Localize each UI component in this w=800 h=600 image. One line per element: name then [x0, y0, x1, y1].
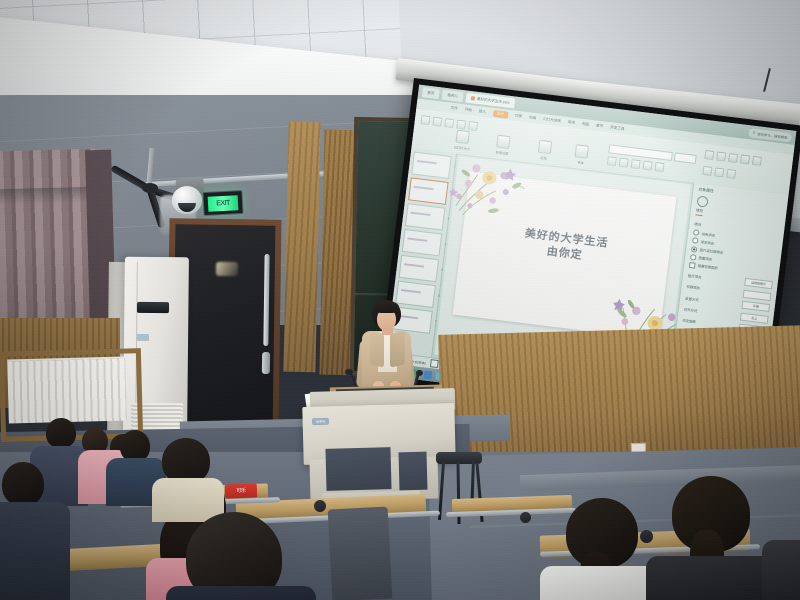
presenter-fringe — [374, 301, 399, 313]
slide-title: 美好的大学生活 由你定 — [461, 219, 671, 274]
ribbon-label-background: 背景设置 — [495, 150, 508, 157]
tab-docer[interactable]: 稻壳儿 — [442, 90, 464, 102]
fill-tool-icon[interactable] — [696, 195, 708, 207]
slide-size-icon — [456, 130, 470, 144]
presenter-jacket-left — [370, 331, 384, 368]
slide-thumbnail[interactable]: 3 — [405, 203, 446, 230]
checkbox-icon — [689, 262, 696, 269]
thumb-number: 4 — [444, 242, 446, 246]
fill-option-label: 隐藏背景图形 — [697, 263, 718, 270]
redo-icon[interactable] — [432, 117, 442, 127]
undo-icon[interactable] — [420, 115, 430, 125]
thumb-number: 7 — [435, 319, 437, 323]
prop-value[interactable] — [743, 289, 772, 300]
menu-item-insert[interactable]: 插入 — [479, 109, 487, 115]
menu-item-view[interactable]: 视图 — [582, 121, 590, 127]
wood-panel-strip — [283, 122, 320, 373]
student-body — [0, 502, 70, 600]
radio-icon — [690, 254, 697, 261]
lectern-side-panel — [399, 452, 428, 491]
shape-fill-icon[interactable] — [702, 166, 712, 176]
radio-icon-selected — [691, 246, 698, 253]
tab-home-label: 首页 — [427, 90, 435, 96]
student-head — [2, 462, 44, 506]
chair-knob — [640, 530, 653, 543]
arrange-icon[interactable] — [726, 169, 736, 179]
menu-item-animation[interactable]: 动画 — [529, 115, 537, 121]
pane-tab-fill[interactable]: 填充 — [695, 208, 703, 216]
align-left-icon[interactable] — [704, 150, 714, 160]
thumb-number: 1 — [454, 165, 456, 169]
ribbon-group-fonts[interactable]: 字体 — [574, 144, 589, 165]
strikethrough-icon[interactable] — [643, 161, 653, 171]
underline-icon[interactable] — [631, 159, 641, 169]
fill-option-label: 图案填充 — [698, 255, 712, 262]
menu-item-slideshow[interactable]: 幻灯片放映 — [543, 117, 561, 124]
align-center-icon[interactable] — [716, 152, 726, 162]
lectern-brand-badge: WPS — [312, 418, 329, 425]
door-lock-icon[interactable] — [262, 352, 270, 374]
ribbon-label-fonts: 字体 — [577, 160, 584, 166]
fill-option-label: 图片或纹理填充 — [699, 247, 723, 255]
color-scheme-icon — [538, 140, 552, 154]
slide-thumbnail[interactable]: 1 — [411, 152, 452, 179]
fan-hub — [142, 183, 158, 193]
tab-docer-label: 稻壳儿 — [447, 93, 458, 99]
bold-icon[interactable] — [607, 156, 617, 166]
radio-icon — [693, 229, 700, 236]
menu-item-design[interactable]: 设计 — [492, 109, 508, 118]
student-body — [762, 540, 800, 600]
ribbon-label-colors: 配色 — [540, 155, 547, 161]
lectern-front-panel — [325, 447, 391, 491]
align-right-icon[interactable] — [728, 153, 738, 163]
ac-brand-badge — [137, 334, 149, 341]
prop-value[interactable]: 平铺 — [741, 301, 770, 312]
prop-label: 对齐方式 — [684, 307, 698, 314]
menu-item-devtools[interactable]: 开发工具 — [610, 125, 625, 132]
exit-sign: EXIT — [202, 190, 243, 216]
search-placeholder: 查找命令、搜索模板 — [757, 131, 788, 140]
lecture-hall-photo: EXIT 首页 稻壳儿 — [0, 0, 800, 600]
tab-presentation-label: 美好的大学生活.pptx — [477, 96, 510, 105]
prop-label: 图片填充 — [688, 273, 702, 280]
fill-option-label: 渐变填充 — [700, 239, 714, 246]
snack-box: 可乐 — [225, 483, 257, 498]
thumb-number: 5 — [441, 268, 443, 272]
student-head — [46, 418, 76, 448]
prop-value[interactable]: 左上 — [740, 312, 769, 323]
thumb-number: 6 — [438, 294, 440, 298]
fill-option-label: 纯色填充 — [701, 231, 715, 238]
ribbon-group-slide-size[interactable]: 幻灯片大小 — [454, 130, 472, 152]
microphone-icon — [345, 369, 353, 375]
background-icon — [496, 135, 510, 149]
menu-item-transition[interactable]: 切换 — [515, 113, 523, 119]
bullet-list-icon[interactable] — [740, 154, 750, 164]
student-body — [166, 586, 316, 600]
exit-sign-label: EXIT — [208, 195, 239, 212]
slide-thumbnail[interactable]: 4 — [402, 229, 443, 256]
chair-knob — [520, 512, 531, 523]
wps-icon[interactable] — [424, 370, 433, 379]
shape-outline-icon[interactable] — [714, 167, 724, 177]
slide-thumbnail[interactable]: 5 — [399, 255, 440, 282]
prop-label: 纹理填充 — [686, 284, 700, 291]
menu-item-section[interactable]: 章节 — [596, 123, 604, 129]
prop-label: 向左偏移 — [682, 318, 696, 325]
print-icon[interactable] — [456, 120, 466, 130]
tab-home[interactable]: 首页 — [422, 87, 440, 99]
slide-thumbnail-selected[interactable]: 2 — [408, 177, 449, 204]
menu-item-file[interactable]: 文件 — [450, 105, 458, 111]
prop-label: 放置方式 — [685, 295, 699, 302]
ribbon-group-background[interactable]: 背景设置 — [495, 135, 510, 156]
align-row — [704, 150, 762, 166]
presenter-jacket-right — [390, 330, 405, 367]
slide-thumbnail[interactable]: 6 — [395, 281, 436, 308]
save-icon[interactable] — [444, 118, 454, 128]
radiator — [7, 356, 127, 423]
auditorium-chair[interactable] — [328, 506, 393, 600]
ppt-file-icon — [471, 96, 475, 100]
ribbon-quick-row — [420, 115, 478, 131]
font-size-input[interactable] — [674, 152, 697, 164]
menu-item-review[interactable]: 审阅 — [568, 120, 576, 126]
text-color-icon[interactable] — [654, 162, 664, 172]
curtain-shadow — [0, 187, 96, 206]
chair-knob — [314, 500, 326, 512]
student-body — [540, 566, 660, 600]
search-icon: ⚲ — [753, 131, 756, 135]
italic-icon[interactable] — [619, 158, 629, 168]
menu-item-start[interactable]: 开始 — [464, 107, 472, 113]
thumb-number: 3 — [447, 216, 449, 220]
shape-row — [702, 166, 736, 179]
door-reflection — [216, 262, 238, 276]
snack-box-label: 可乐 — [225, 483, 257, 498]
ac-display-panel — [137, 302, 169, 313]
current-slide[interactable]: 美好的大学生活 由你定 — [452, 172, 676, 340]
thumb-number: 2 — [450, 190, 452, 194]
microphone-icon-2 — [416, 370, 423, 376]
prop-value[interactable]: 请选择图片 — [744, 278, 773, 289]
font-scheme-icon — [575, 144, 589, 158]
number-list-icon[interactable] — [752, 156, 762, 166]
normal-view-icon[interactable] — [429, 359, 438, 368]
language-indicator[interactable]: 中文(简体) — [411, 358, 426, 365]
ribbon-label-slide-size: 幻灯片大小 — [454, 144, 470, 151]
format-painter-icon[interactable] — [468, 121, 478, 131]
ribbon-group-colors[interactable]: 配色 — [537, 140, 552, 161]
radio-icon — [692, 238, 699, 245]
